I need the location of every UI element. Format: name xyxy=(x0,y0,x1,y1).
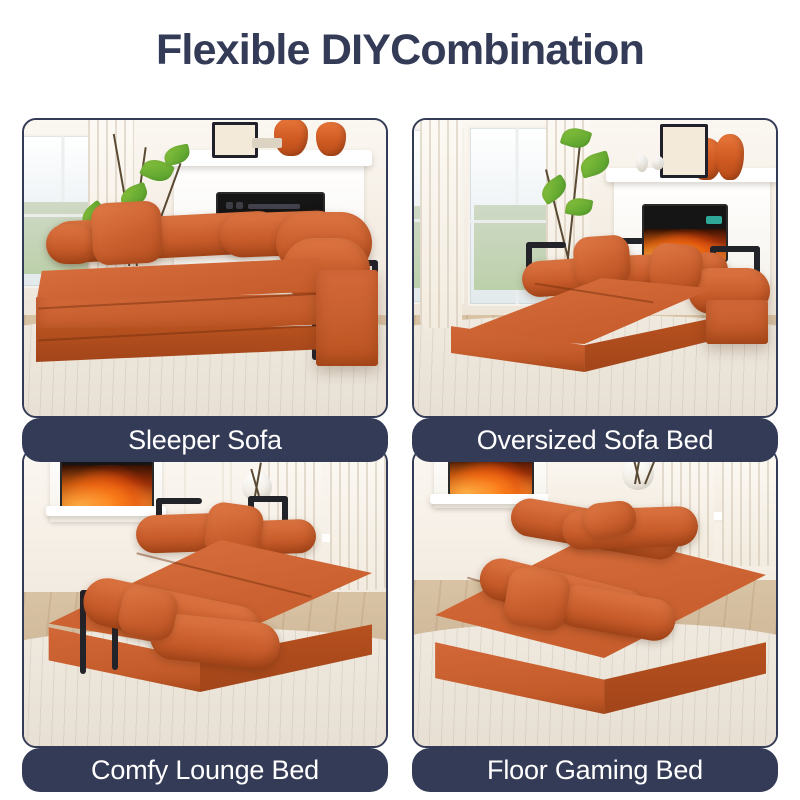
product-photo-comfy-lounge-bed xyxy=(24,450,386,746)
card-label-pill: Floor Gaming Bed xyxy=(412,748,778,792)
product-card-grid: Sleeper Sofa xyxy=(22,118,778,766)
fireplace-flames xyxy=(62,465,152,508)
sofa-arm-cap xyxy=(46,224,98,264)
product-photo-sleeper-sofa xyxy=(24,120,386,416)
product-card-floor-gaming-bed[interactable]: Floor Gaming Bed xyxy=(412,448,778,770)
white-figurine xyxy=(636,154,648,172)
card-frame xyxy=(412,448,778,748)
orange-vase xyxy=(316,122,346,156)
metal-frame-bar xyxy=(156,498,202,504)
fireplace-shelf xyxy=(166,150,372,166)
throw-pillow xyxy=(501,565,572,633)
infographic-root: Flexible DIYCombination xyxy=(0,0,800,800)
card-label-pill: Sleeper Sofa xyxy=(22,418,388,462)
sofa-right-block xyxy=(316,270,378,366)
metal-frame-bar xyxy=(710,246,760,252)
product-card-oversized-sofa-bed[interactable]: Oversized Sofa Bed xyxy=(412,118,778,440)
card-frame xyxy=(22,448,388,748)
orange-vase xyxy=(716,134,744,180)
product-photo-floor-gaming-bed xyxy=(414,450,776,746)
card-label-pill: Oversized Sofa Bed xyxy=(412,418,778,462)
curtain xyxy=(420,120,462,328)
picture-frame-icon xyxy=(660,124,708,178)
throw-pillow xyxy=(90,200,163,266)
product-card-comfy-lounge-bed[interactable]: Comfy Lounge Bed xyxy=(22,448,388,770)
fireplace-base-trim xyxy=(46,506,166,516)
card-label-text: Sleeper Sofa xyxy=(128,427,282,454)
curtain xyxy=(722,450,776,566)
card-label-text: Comfy Lounge Bed xyxy=(91,757,319,784)
card-frame xyxy=(412,118,778,418)
mattress-right-block xyxy=(706,300,768,344)
product-photo-oversized-sofa-bed xyxy=(414,120,776,416)
product-card-sleeper-sofa[interactable]: Sleeper Sofa xyxy=(22,118,388,440)
card-label-text: Floor Gaming Bed xyxy=(487,757,703,784)
card-frame xyxy=(22,118,388,418)
card-label-pill: Comfy Lounge Bed xyxy=(22,748,388,792)
metal-frame-bar xyxy=(526,242,566,248)
white-figurine xyxy=(652,156,664,170)
card-label-text: Oversized Sofa Bed xyxy=(477,427,714,454)
fireplace-flames xyxy=(450,458,532,494)
page-title: Flexible DIYCombination xyxy=(0,26,800,75)
